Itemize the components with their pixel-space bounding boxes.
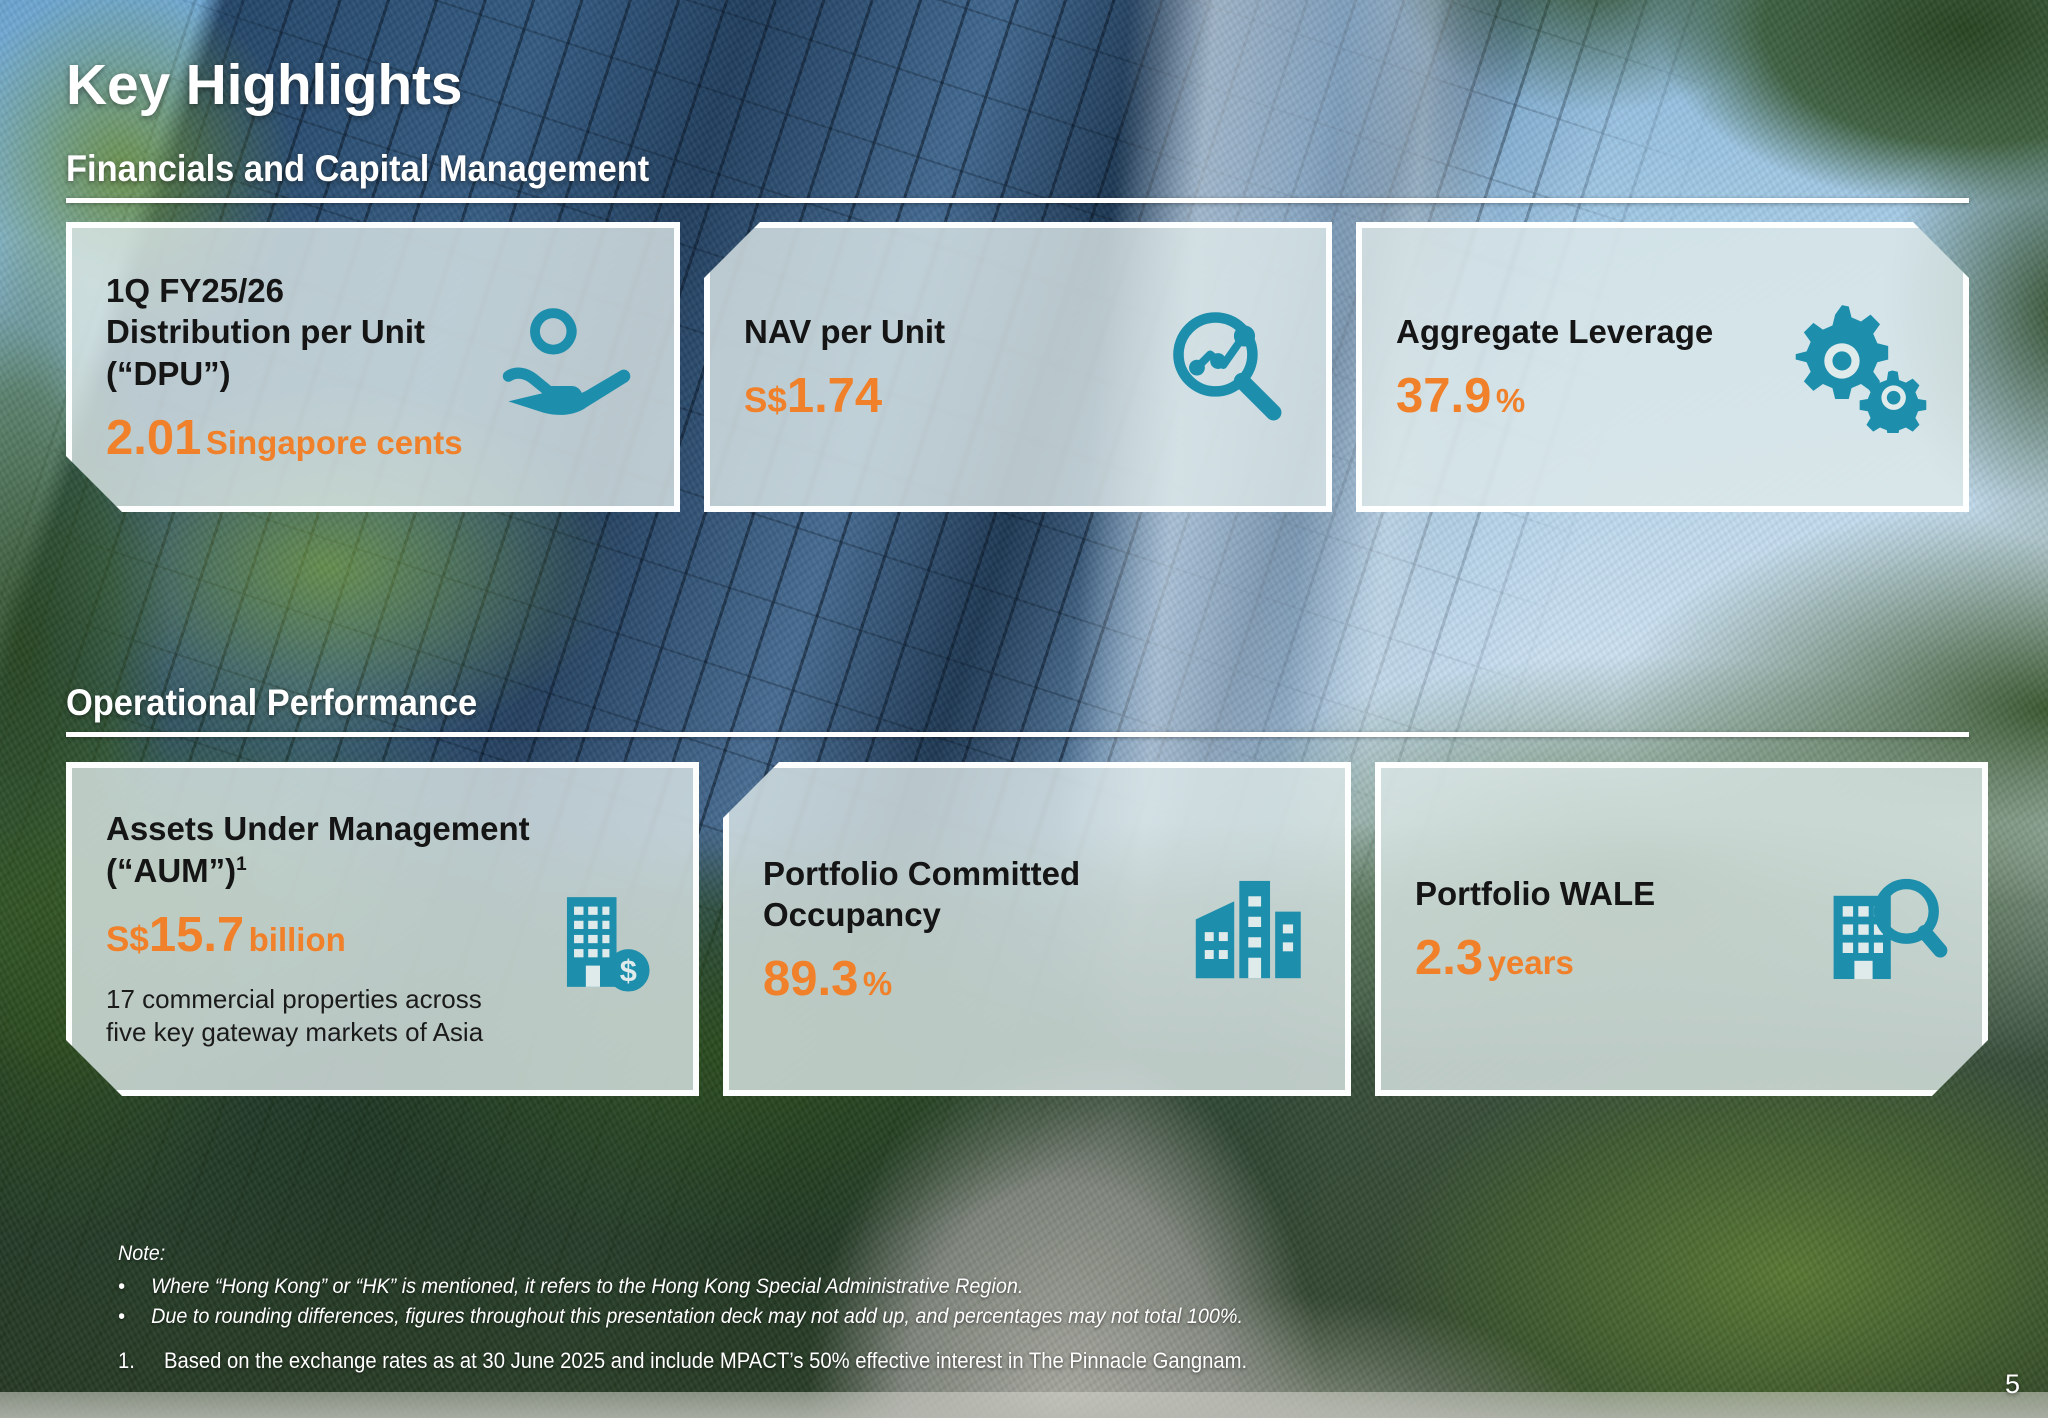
card-aum-value: S$15.7 billion <box>106 910 530 961</box>
card-dpu-value: 2.01 Singapore cents <box>106 413 463 464</box>
card-nav-value: S$1.74 <box>744 371 945 422</box>
card-occupancy-label-line1: Portfolio Committed <box>763 853 1080 895</box>
card-occupancy-value: 89.3 % <box>763 954 1080 1005</box>
notes-bullets: • Where “Hong Kong” or “HK” is mentioned… <box>118 1271 1243 1332</box>
card-wale-label: Portfolio WALE <box>1415 873 1655 915</box>
section-divider <box>66 198 1969 203</box>
card-aum-subtext: 17 commercial properties across five key… <box>106 983 530 1050</box>
office-building-dollar-icon: $ <box>541 883 659 1006</box>
card-portfolio-wale[interactable]: Portfolio WALE 2.3 years <box>1375 762 1988 1096</box>
card-occupancy-value-unit: % <box>863 965 892 1002</box>
card-dpu-label-line2: Distribution per Unit <box>106 311 463 353</box>
card-dpu-value-unit: Singapore cents <box>206 424 463 461</box>
card-dpu[interactable]: 1Q FY25/26 Distribution per Unit (“DPU”)… <box>66 222 680 512</box>
page-title: Key Highlights <box>66 52 462 118</box>
footnote-text: Based on the exchange rates as at 30 Jun… <box>164 1348 1247 1374</box>
card-nav-value-prefix: S$ <box>744 381 787 420</box>
notes-block: Note: • Where “Hong Kong” or “HK” is men… <box>118 1238 1243 1332</box>
card-aum-label-abbrev: (“AUM”) <box>106 852 236 889</box>
card-wale-value-unit: years <box>1488 944 1574 981</box>
notes-bullet-text: Where “Hong Kong” or “HK” is mentioned, … <box>151 1271 1023 1302</box>
section-operational: Operational Performance <box>66 682 1969 737</box>
building-magnifier-icon <box>1818 862 1948 997</box>
card-nav-value-number: 1.74 <box>787 369 882 423</box>
buildings-icon <box>1183 863 1311 996</box>
hand-holding-coin-icon <box>500 295 640 440</box>
card-aum-value-unit: billion <box>249 921 346 958</box>
card-leverage-value: 37.9 % <box>1396 371 1713 422</box>
section-financials: Financials and Capital Management <box>66 148 1969 203</box>
section-heading-operational: Operational Performance <box>66 682 1836 724</box>
gears-icon <box>1793 297 1929 438</box>
card-leverage-label: Aggregate Leverage <box>1396 311 1713 353</box>
card-leverage-value-number: 37.9 <box>1396 369 1491 423</box>
card-wale-value-number: 2.3 <box>1415 931 1483 985</box>
notes-bullet: • Due to rounding differences, figures t… <box>118 1301 1243 1332</box>
card-aum-label-line1: Assets Under Management <box>106 808 530 850</box>
card-nav-label: NAV per Unit <box>744 311 945 353</box>
card-wale-value: 2.3 years <box>1415 933 1655 984</box>
card-leverage-value-unit: % <box>1496 382 1525 419</box>
card-aum-subtext-line2: five key gateway markets of Asia <box>106 1016 530 1049</box>
bullet-marker: • <box>118 1301 125 1332</box>
card-occupancy-label-line2: Occupancy <box>763 894 1080 936</box>
card-nav-per-unit[interactable]: NAV per Unit S$1.74 <box>704 222 1332 512</box>
slide-canvas: Key Highlights Financials and Capital Ma… <box>0 0 2048 1418</box>
card-dpu-label: 1Q FY25/26 Distribution per Unit (“DPU”) <box>106 270 463 395</box>
card-aum-value-number: 15.7 <box>149 908 244 962</box>
card-dpu-value-number: 2.01 <box>106 411 201 465</box>
card-portfolio-occupancy[interactable]: Portfolio Committed Occupancy 89.3 % <box>723 762 1351 1096</box>
footnote-1: 1. Based on the exchange rates as at 30 … <box>118 1348 1247 1374</box>
card-occupancy-value-number: 89.3 <box>763 952 858 1006</box>
card-aum-label: Assets Under Management (“AUM”)1 <box>106 808 530 891</box>
page-number: 5 <box>2005 1369 2020 1400</box>
svg-text:$: $ <box>620 953 637 987</box>
notes-bullet-text: Due to rounding differences, figures thr… <box>151 1301 1243 1332</box>
section-divider-2 <box>66 732 1969 737</box>
card-row-financials: 1Q FY25/26 Distribution per Unit (“DPU”)… <box>66 222 1969 512</box>
card-occupancy-label: Portfolio Committed Occupancy <box>763 853 1080 936</box>
card-aum[interactable]: Assets Under Management (“AUM”)1 S$15.7 … <box>66 762 699 1096</box>
bullet-marker: • <box>118 1271 125 1302</box>
card-dpu-label-line3: (“DPU”) <box>106 353 463 395</box>
notes-title: Note: <box>118 1238 1243 1269</box>
section-heading-financials: Financials and Capital Management <box>66 148 1836 190</box>
footnote-number: 1. <box>118 1348 142 1374</box>
notes-bullet: • Where “Hong Kong” or “HK” is mentioned… <box>118 1271 1243 1302</box>
card-dpu-label-line1: 1Q FY25/26 <box>106 270 463 312</box>
card-aggregate-leverage[interactable]: Aggregate Leverage 37.9 % <box>1356 222 1969 512</box>
card-row-operational: Assets Under Management (“AUM”)1 S$15.7 … <box>66 762 1988 1096</box>
bottom-bar <box>0 1392 2048 1418</box>
chart-magnifier-icon <box>1160 299 1292 436</box>
card-aum-value-prefix: S$ <box>106 920 149 959</box>
card-aum-label-line2: (“AUM”)1 <box>106 850 530 892</box>
card-aum-footnote-marker: 1 <box>236 854 247 875</box>
card-aum-subtext-line1: 17 commercial properties across <box>106 983 530 1016</box>
